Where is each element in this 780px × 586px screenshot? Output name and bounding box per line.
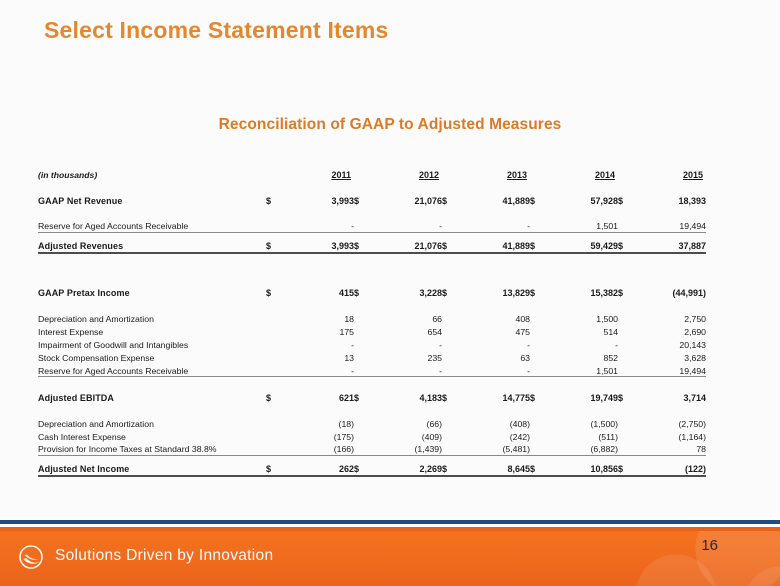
- symbol-spacer: [266, 351, 282, 364]
- header-symbol-spacer-1: [266, 164, 282, 180]
- cell-value: (408): [458, 416, 530, 429]
- table-row: Cash Interest Expense (175) (409) (242) …: [38, 429, 706, 442]
- row-label: Stock Compensation Expense: [38, 351, 266, 364]
- footer-divider-stripe: [0, 517, 780, 531]
- currency-symbol: $: [442, 463, 458, 476]
- row-label: GAAP Net Revenue: [38, 193, 266, 206]
- cell-value: 78: [634, 442, 706, 455]
- currency-symbol: $: [530, 286, 546, 299]
- cell-value: 14,775: [458, 390, 530, 403]
- symbol-spacer: [530, 429, 546, 442]
- spacer: [38, 299, 706, 312]
- symbol-spacer: [354, 364, 370, 377]
- symbol-spacer: [530, 219, 546, 232]
- cell-value: -: [370, 338, 442, 351]
- table-row: GAAP Pretax Income $ 415 $ 3,228 $ 13,82…: [38, 286, 706, 299]
- cell-value: 21,076: [370, 240, 442, 253]
- currency-symbol: $: [530, 390, 546, 403]
- cell-value: 13,829: [458, 286, 530, 299]
- currency-symbol: $: [266, 240, 282, 253]
- row-label: Interest Expense: [38, 325, 266, 338]
- currency-symbol: $: [618, 463, 634, 476]
- spacer: [38, 253, 706, 273]
- symbol-spacer: [266, 416, 282, 429]
- symbol-spacer: [354, 219, 370, 232]
- spacer: [38, 403, 706, 416]
- row-label: Depreciation and Amortization: [38, 416, 266, 429]
- symbol-spacer: [618, 219, 634, 232]
- table-row: Adjusted Net Income $ 262 $ 2,269 $ 8,64…: [38, 463, 706, 476]
- table-row: Adjusted Revenues $ 3,993 $ 21,076 $ 41,…: [38, 240, 706, 253]
- symbol-spacer: [442, 442, 458, 455]
- cell-value: 19,749: [546, 390, 618, 403]
- cell-value: 175: [282, 325, 354, 338]
- cell-value: 3,228: [370, 286, 442, 299]
- symbol-spacer: [354, 338, 370, 351]
- symbol-spacer: [442, 364, 458, 377]
- spacer: [38, 232, 706, 240]
- table-row: Depreciation and Amortization 18 66 408 …: [38, 312, 706, 325]
- cell-value: (1,500): [546, 416, 618, 429]
- cell-value: 235: [370, 351, 442, 364]
- symbol-spacer: [530, 351, 546, 364]
- spacer: [38, 180, 706, 193]
- row-label: Reserve for Aged Accounts Receivable: [38, 219, 266, 232]
- symbol-spacer: [442, 338, 458, 351]
- cell-value: (44,991): [634, 286, 706, 299]
- cell-value: 20,143: [634, 338, 706, 351]
- cell-value: 19,494: [634, 364, 706, 377]
- row-label: Adjusted EBITDA: [38, 390, 266, 403]
- currency-symbol: $: [266, 390, 282, 403]
- page-number: 16: [701, 537, 718, 554]
- header-symbol-spacer-3: [442, 164, 458, 180]
- cell-value: (6,882): [546, 442, 618, 455]
- table-row: Adjusted EBITDA $ 621 $ 4,183 $ 14,775 $…: [38, 390, 706, 403]
- cell-value: -: [370, 219, 442, 232]
- table-row: Depreciation and Amortization (18) (66) …: [38, 416, 706, 429]
- cell-value: (5,481): [458, 442, 530, 455]
- symbol-spacer: [354, 429, 370, 442]
- currency-symbol: $: [442, 286, 458, 299]
- symbol-spacer: [266, 312, 282, 325]
- symbol-spacer: [442, 219, 458, 232]
- currency-symbol: $: [354, 193, 370, 206]
- cell-value: -: [282, 338, 354, 351]
- row-label: Impairment of Goodwill and Intangibles: [38, 338, 266, 351]
- symbol-spacer: [618, 442, 634, 455]
- footer-band: Solutions Driven by Innovation 16: [0, 531, 780, 586]
- footer-tagline: Solutions Driven by Innovation: [55, 547, 273, 565]
- cell-value: (242): [458, 429, 530, 442]
- currency-symbol: $: [442, 390, 458, 403]
- symbol-spacer: [266, 219, 282, 232]
- cell-value: 514: [546, 325, 618, 338]
- cell-value: 19,494: [634, 219, 706, 232]
- cell-value: 18,393: [634, 193, 706, 206]
- currency-symbol: $: [618, 286, 634, 299]
- cell-value: -: [282, 364, 354, 377]
- table-row: Provision for Income Taxes at Standard 3…: [38, 442, 706, 455]
- cell-value: -: [282, 219, 354, 232]
- currency-symbol: $: [354, 286, 370, 299]
- cell-value: 18: [282, 312, 354, 325]
- currency-symbol: $: [618, 193, 634, 206]
- symbol-spacer: [266, 429, 282, 442]
- header-symbol-spacer-4: [530, 164, 546, 180]
- cell-value: 21,076: [370, 193, 442, 206]
- column-header-year-2015: 2015: [634, 164, 706, 180]
- currency-symbol: $: [354, 390, 370, 403]
- cell-value: (166): [282, 442, 354, 455]
- row-label: Depreciation and Amortization: [38, 312, 266, 325]
- header-symbol-spacer-5: [618, 164, 634, 180]
- units-note: (in thousands): [38, 164, 266, 180]
- table-row: GAAP Net Revenue $ 3,993 $ 21,076 $ 41,8…: [38, 193, 706, 206]
- currency-symbol: $: [530, 463, 546, 476]
- symbol-spacer: [442, 351, 458, 364]
- symbol-spacer: [266, 364, 282, 377]
- cell-value: -: [458, 364, 530, 377]
- cell-value: 2,269: [370, 463, 442, 476]
- currency-symbol: $: [618, 240, 634, 253]
- cell-value: 13: [282, 351, 354, 364]
- symbol-spacer: [530, 312, 546, 325]
- reconciliation-table-wrap: (in thousands) 2011 2012 2013 2014 2015 …: [38, 164, 706, 477]
- symbol-spacer: [618, 364, 634, 377]
- cell-value: 37,887: [634, 240, 706, 253]
- symbol-spacer: [618, 351, 634, 364]
- currency-symbol: $: [354, 240, 370, 253]
- column-header-year-2012: 2012: [370, 164, 442, 180]
- row-label: Adjusted Net Income: [38, 463, 266, 476]
- cell-value: 475: [458, 325, 530, 338]
- cell-value: -: [458, 219, 530, 232]
- currency-symbol: $: [442, 193, 458, 206]
- symbol-spacer: [266, 338, 282, 351]
- spacer: [38, 455, 706, 463]
- row-label: Provision for Income Taxes at Standard 3…: [38, 442, 266, 455]
- row-label: Adjusted Revenues: [38, 240, 266, 253]
- currency-symbol: $: [354, 463, 370, 476]
- symbol-spacer: [354, 416, 370, 429]
- symbol-spacer: [442, 429, 458, 442]
- symbol-spacer: [530, 325, 546, 338]
- cell-value: 66: [370, 312, 442, 325]
- cell-value: 8,645: [458, 463, 530, 476]
- symbol-spacer: [442, 325, 458, 338]
- cell-value: (511): [546, 429, 618, 442]
- cell-value: 63: [458, 351, 530, 364]
- symbol-spacer: [530, 338, 546, 351]
- cell-value: 10,856: [546, 463, 618, 476]
- symbol-spacer: [618, 325, 634, 338]
- cell-value: (1,164): [634, 429, 706, 442]
- table-row: Stock Compensation Expense 13 235 63 852…: [38, 351, 706, 364]
- table-row: Interest Expense 175 654 475 514 2,690: [38, 325, 706, 338]
- column-header-year-2013: 2013: [458, 164, 530, 180]
- currency-symbol: $: [266, 463, 282, 476]
- row-label: GAAP Pretax Income: [38, 286, 266, 299]
- symbol-spacer: [266, 442, 282, 455]
- row-label: Reserve for Aged Accounts Receivable: [38, 364, 266, 377]
- slide: Select Income Statement Items Reconcilia…: [0, 0, 780, 586]
- cell-value: -: [458, 338, 530, 351]
- symbol-spacer: [266, 325, 282, 338]
- cell-value: (409): [370, 429, 442, 442]
- cell-value: 4,183: [370, 390, 442, 403]
- cell-value: 621: [282, 390, 354, 403]
- circle-swoosh-logo-icon: [18, 544, 44, 570]
- slide-subtitle: Reconciliation of GAAP to Adjusted Measu…: [0, 116, 780, 134]
- cell-value: 3,714: [634, 390, 706, 403]
- table-row: Impairment of Goodwill and Intangibles -…: [38, 338, 706, 351]
- cell-value: 2,750: [634, 312, 706, 325]
- symbol-spacer: [354, 325, 370, 338]
- cell-value: -: [546, 338, 618, 351]
- currency-symbol: $: [530, 193, 546, 206]
- cell-value: 57,928: [546, 193, 618, 206]
- reconciliation-table: (in thousands) 2011 2012 2013 2014 2015 …: [38, 164, 706, 477]
- cell-value: (18): [282, 416, 354, 429]
- currency-symbol: $: [530, 240, 546, 253]
- cell-value: 2,690: [634, 325, 706, 338]
- symbol-spacer: [442, 312, 458, 325]
- table-row: Reserve for Aged Accounts Receivable - -…: [38, 219, 706, 232]
- cell-value: 3,993: [282, 193, 354, 206]
- symbol-spacer: [530, 364, 546, 377]
- cell-value: 408: [458, 312, 530, 325]
- symbol-spacer: [618, 338, 634, 351]
- spacer: [38, 377, 706, 391]
- symbol-spacer: [530, 442, 546, 455]
- currency-symbol: $: [442, 240, 458, 253]
- cell-value: 1,500: [546, 312, 618, 325]
- symbol-spacer: [354, 442, 370, 455]
- spacer: [38, 206, 706, 219]
- symbol-spacer: [618, 416, 634, 429]
- table-header-row: (in thousands) 2011 2012 2013 2014 2015: [38, 164, 706, 180]
- cell-value: 852: [546, 351, 618, 364]
- currency-symbol: $: [618, 390, 634, 403]
- cell-value: 15,382: [546, 286, 618, 299]
- cell-value: (1,439): [370, 442, 442, 455]
- symbol-spacer: [442, 416, 458, 429]
- symbol-spacer: [618, 429, 634, 442]
- cell-value: (66): [370, 416, 442, 429]
- cell-value: 262: [282, 463, 354, 476]
- cell-value: 59,429: [546, 240, 618, 253]
- cell-value: (175): [282, 429, 354, 442]
- cell-value: (2,750): [634, 416, 706, 429]
- symbol-spacer: [618, 312, 634, 325]
- table-row: Reserve for Aged Accounts Receivable - -…: [38, 364, 706, 377]
- currency-symbol: $: [266, 193, 282, 206]
- column-header-year-2011: 2011: [282, 164, 354, 180]
- cell-value: 415: [282, 286, 354, 299]
- cell-value: 41,889: [458, 240, 530, 253]
- cell-value: 654: [370, 325, 442, 338]
- cell-value: 1,501: [546, 364, 618, 377]
- row-label: Cash Interest Expense: [38, 429, 266, 442]
- cell-value: (122): [634, 463, 706, 476]
- page-title: Select Income Statement Items: [44, 17, 389, 44]
- header-symbol-spacer-2: [354, 164, 370, 180]
- cell-value: 3,993: [282, 240, 354, 253]
- cell-value: 41,889: [458, 193, 530, 206]
- symbol-spacer: [354, 312, 370, 325]
- spacer: [38, 273, 706, 286]
- cell-value: 3,628: [634, 351, 706, 364]
- column-header-year-2014: 2014: [546, 164, 618, 180]
- currency-symbol: $: [266, 286, 282, 299]
- cell-value: 1,501: [546, 219, 618, 232]
- cell-value: -: [370, 364, 442, 377]
- symbol-spacer: [530, 416, 546, 429]
- symbol-spacer: [354, 351, 370, 364]
